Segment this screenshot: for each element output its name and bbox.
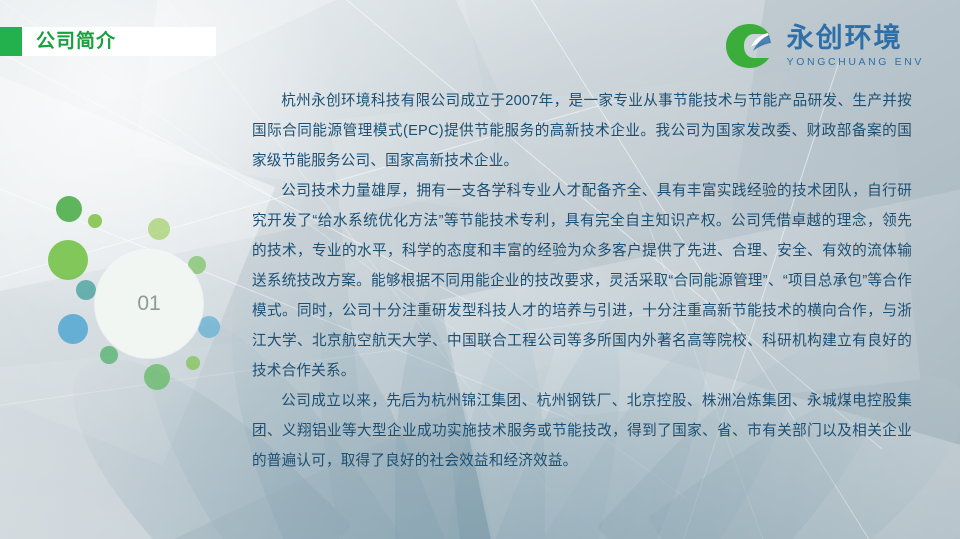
company-logo: 永创环境 YONGCHUANG ENV [724, 22, 924, 70]
decor-dot [186, 356, 200, 370]
decor-dot [48, 240, 88, 280]
decor-dot [198, 316, 220, 338]
logo-text: 永创环境 YONGCHUANG ENV [787, 25, 924, 68]
logo-name-cn: 永创环境 [787, 25, 924, 52]
page-title: 公司简介 [36, 30, 116, 54]
paragraph: 杭州永创环境科技有限公司成立于2007年，是一家专业从事节能技术与节能产品研发、… [252, 86, 912, 176]
decor-dot [148, 218, 170, 240]
logo-name-en: YONGCHUANG ENV [787, 57, 924, 68]
paragraph: 公司成立以来，先后为杭州锦江集团、杭州钢铁厂、北京控股、株洲冶炼集团、永城煤电控… [252, 386, 912, 476]
decor-dot [58, 314, 88, 344]
section-number-circle: 01 [95, 250, 203, 358]
decor-dot [88, 214, 102, 228]
decor-dot [100, 346, 118, 364]
paragraph: 公司技术力量雄厚，拥有一支各学科专业人才配备齐全、具有丰富实践经验的技术团队，自… [252, 176, 912, 386]
section-number: 01 [137, 292, 160, 316]
decor-dot [56, 196, 82, 222]
section-number-badge-group: 01 [48, 196, 248, 406]
body-content: 杭州永创环境科技有限公司成立于2007年，是一家专业从事节能技术与节能产品研发、… [252, 86, 912, 476]
decor-dot [144, 364, 170, 390]
header-accent-block [0, 27, 22, 56]
decor-dot [76, 280, 96, 300]
leaf-swoosh-icon [724, 22, 778, 70]
slide-canvas: 公司简介 永创环境 YONGCHUANG ENV 01 [0, 0, 960, 539]
